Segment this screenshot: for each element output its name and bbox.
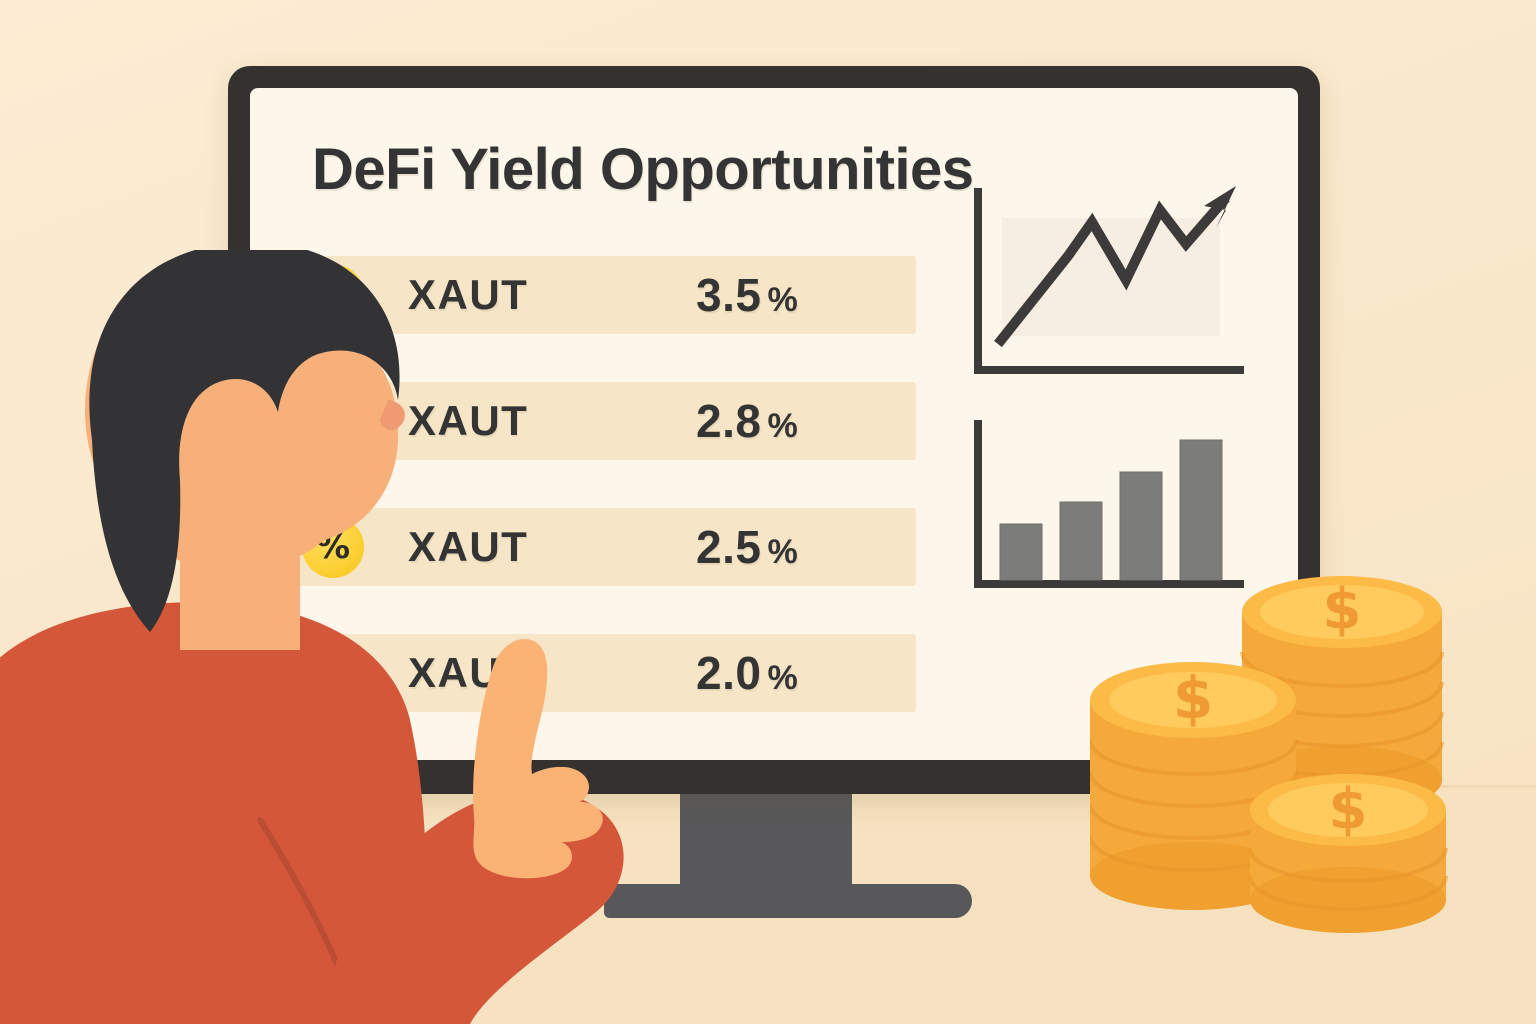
bar — [1180, 440, 1222, 580]
percent-unit: % — [767, 281, 798, 319]
coin-stack-front: $ — [1250, 774, 1446, 933]
dollar-sign-icon: $ — [1329, 777, 1368, 842]
dollar-sign-icon: $ — [1323, 577, 1362, 642]
percent-unit: % — [767, 533, 798, 571]
percent-unit: % — [767, 659, 798, 697]
percent-unit: % — [767, 407, 798, 445]
coin-stack-group: $ $ $ — [1090, 560, 1490, 960]
page-title: DeFi Yield Opportunities — [312, 136, 974, 203]
person-figure — [0, 250, 760, 1024]
trend-line-chart — [964, 184, 1254, 400]
dollar-sign-icon: $ — [1173, 664, 1213, 732]
bar — [1000, 524, 1042, 580]
illustration-scene: DeFi Yield Opportunities % — [0, 0, 1536, 1024]
